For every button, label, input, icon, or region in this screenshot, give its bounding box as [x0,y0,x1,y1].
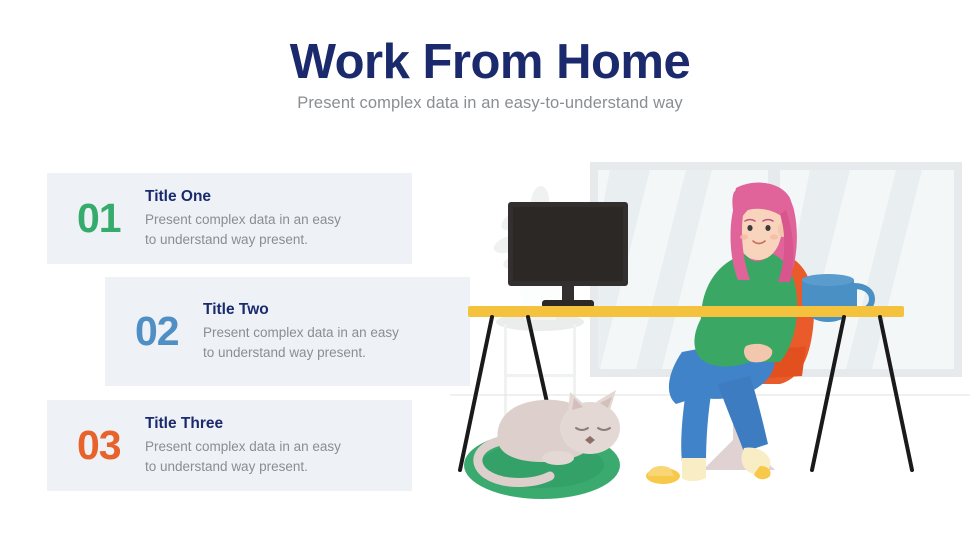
work-from-home-illustration [450,140,970,510]
item-number: 01 [77,198,145,239]
slide-header: Work From Home Present complex data in a… [0,36,980,114]
item-description-line2: to understand way present. [145,230,412,250]
slipper-icon [646,466,680,484]
item-text-block: Title One Present complex data in an eas… [145,187,412,250]
item-title: Title One [145,187,412,206]
item-number: 02 [135,311,203,352]
list-item-two[interactable]: 02 Title Two Present complex data in an … [105,277,470,386]
item-description-line1: Present complex data in an easy [203,323,470,343]
page-subtitle: Present complex data in an easy-to-under… [0,94,980,114]
item-description-line2: to understand way present. [145,457,412,477]
item-description-line1: Present complex data in an easy [145,210,412,230]
item-text-block: Title Three Present complex data in an e… [145,414,412,477]
page-title: Work From Home [0,36,980,89]
item-number: 03 [77,425,145,466]
slide: Work From Home Present complex data in a… [0,0,980,551]
item-title: Title Two [203,300,470,319]
item-description-line2: to understand way present. [203,343,470,363]
item-title: Title Three [145,414,412,433]
item-text-block: Title Two Present complex data in an eas… [203,300,470,363]
list-item-three[interactable]: 03 Title Three Present complex data in a… [47,400,412,491]
list-item-one[interactable]: 01 Title One Present complex data in an … [47,173,412,264]
item-description-line1: Present complex data in an easy [145,437,412,457]
